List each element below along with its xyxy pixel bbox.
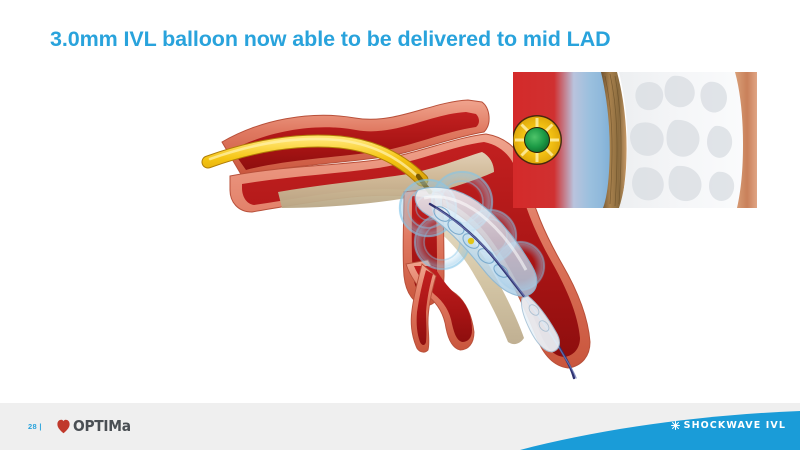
calcium-texture <box>630 76 734 201</box>
slide: 3.0mm IVL balloon now able to be deliver… <box>0 0 800 450</box>
ivl-emitter-target <box>513 115 562 165</box>
shockwave-wordmark: SHOCKWAVE IVL <box>684 420 786 431</box>
page-number: 28 | <box>28 422 42 431</box>
optima-heart-icon <box>57 419 70 434</box>
slide-footer: 28 | OPTIMa SHOCKWAVE IVL <box>0 403 800 450</box>
optima-wordmark: OPTIMa <box>73 417 131 435</box>
shockwave-logo: SHOCKWAVE IVL <box>671 420 786 431</box>
ivl-emitter-closeup-inset <box>513 72 757 208</box>
emitter-marker <box>468 238 474 244</box>
page-title: 3.0mm IVL balloon now able to be deliver… <box>50 26 750 52</box>
shockwave-burst-icon <box>671 421 680 430</box>
optima-logo: OPTIMa <box>57 417 136 435</box>
